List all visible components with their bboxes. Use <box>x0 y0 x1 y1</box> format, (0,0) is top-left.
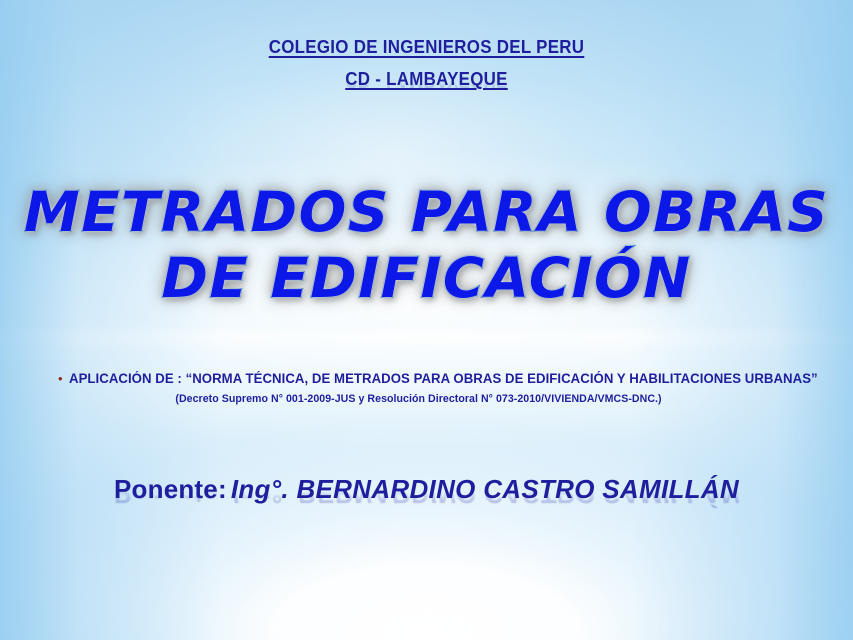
slide-title-line-1: METRADOS PARA OBRAS <box>0 181 853 243</box>
presenter-reflection: Ponente:Ing°. BERNARDINO CASTRO SAMILLÁN <box>0 487 853 509</box>
presenter-label-reflection: Ponente: <box>114 487 227 509</box>
bullet-marker-icon: • <box>58 372 63 386</box>
presentation-slide: COLEGIO DE INGENIEROS DEL PERU CD - LAMB… <box>0 0 853 640</box>
norm-title-text: APLICACIÓN DE : “NORMA TÉCNICA, DE METRA… <box>69 371 818 386</box>
institution-header: COLEGIO DE INGENIEROS DEL PERU CD - LAMB… <box>0 38 853 99</box>
institution-name: COLEGIO DE INGENIEROS DEL PERU <box>26 38 828 57</box>
norm-bullet-row: • APLICACIÓN DE : “NORMA TÉCNICA, DE MET… <box>0 371 853 386</box>
presenter-block: Ponente:Ing°. BERNARDINO CASTRO SAMILLÁN… <box>0 474 853 531</box>
slide-title-line-2: DE EDIFICACIÓN <box>0 247 853 309</box>
institution-chapter-reflection: CD - LAMBAYEQUE <box>26 81 828 90</box>
slide-title: METRADOS PARA OBRAS DE EDIFICACIÓN <box>0 181 853 309</box>
norm-reference-block: • APLICACIÓN DE : “NORMA TÉCNICA, DE MET… <box>0 371 853 406</box>
presenter-name-reflection: Ing°. BERNARDINO CASTRO SAMILLÁN <box>231 487 739 509</box>
norm-legal-reference-text: (Decreto Supremo N° 001-2009-JUS y Resol… <box>0 393 853 406</box>
slide-background-light-band <box>0 325 853 351</box>
